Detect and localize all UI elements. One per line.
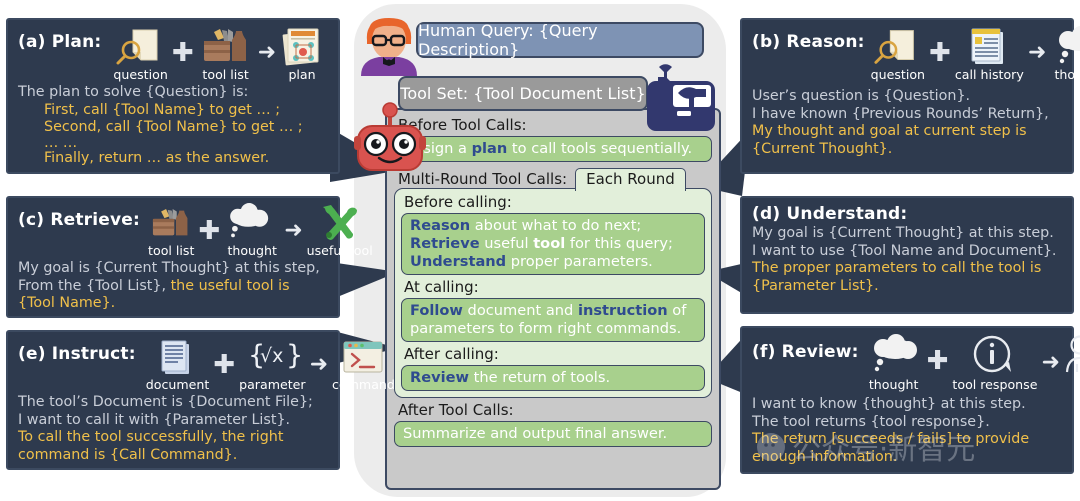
useful-tool-label: useful tool <box>307 243 373 258</box>
plan-icon <box>280 26 324 66</box>
understand-bold: Understand <box>410 253 506 270</box>
question-icon <box>873 26 923 66</box>
retrieve-line-1a: From the {Tool List}, <box>18 278 171 294</box>
plus-sign: ✚ <box>929 40 951 82</box>
reason-line-0: User’s question is {Question}. <box>752 88 1062 106</box>
document-label: document <box>146 377 210 392</box>
tool-list-label: tool list <box>148 243 194 258</box>
plan-line-4: Finally, return … as the answer. <box>18 150 328 168</box>
retrieve-rest: for this query; <box>565 235 673 252</box>
understand-line-1: I want to use {Tool Name and Document}. <box>752 243 1062 261</box>
reason-line-2: My thought and goal at current step is <box>752 123 1062 141</box>
call-history-label: call history <box>955 67 1024 82</box>
follow-mid: document and <box>463 302 578 319</box>
thought-cloud-icon <box>1050 26 1080 66</box>
thought-label: thought <box>1054 67 1080 82</box>
each-round-tab[interactable]: Each Round <box>575 168 686 191</box>
tool-set-chip[interactable]: Tool Set: {Tool Document List} <box>398 76 648 111</box>
instruction-bold: instruction <box>578 302 668 319</box>
reason-bold: Reason <box>410 217 470 234</box>
design-plan-post: to call tools sequentially. <box>507 140 692 157</box>
retrieve-line-1b: the useful tool is <box>171 278 290 294</box>
at-calling-label: At calling: <box>404 278 705 296</box>
critic-icon <box>1064 334 1080 376</box>
arrow-right-icon: ➜ <box>310 354 328 392</box>
panel-retrieve-title: (c) Retrieve: <box>18 210 140 230</box>
toolbox-icon <box>645 63 717 133</box>
retrieve-tool-bold: tool <box>533 235 565 252</box>
after-tool-calls-label: After Tool Calls: <box>398 401 712 419</box>
robot-avatar-icon <box>352 100 428 178</box>
instruct-line-2: To call the tool successfully, the right <box>18 429 328 447</box>
tool-list-icon <box>198 26 254 66</box>
retrieve-bold: Retrieve <box>410 235 480 252</box>
panel-understand: (d) Understand: My goal is {Current Thou… <box>740 196 1074 314</box>
review-line-3: enough information. <box>752 449 1062 467</box>
plus-sign: ✚ <box>213 352 235 392</box>
retrieve-line-0: My goal is {Current Thought} at this ste… <box>18 260 328 278</box>
understand-rest: proper parameters. <box>506 253 653 270</box>
tool-list-icon <box>148 204 194 242</box>
parameter-icon: { √x } <box>244 338 300 376</box>
plan-line-1: First, call {Tool Name} to get … ; <box>18 102 328 120</box>
plan-line-0: The plan to solve {Question} is: <box>18 84 328 102</box>
reason-rest: about what to do next; <box>470 217 641 234</box>
review-rest: the return of tools. <box>469 369 610 386</box>
question-icon <box>115 26 167 66</box>
panel-understand-title: (d) Understand: <box>752 204 1062 224</box>
thought-label: thought <box>869 377 919 392</box>
plus-sign: ✚ <box>927 348 949 392</box>
human-avatar-icon <box>357 14 421 76</box>
after-calling-label: After calling: <box>404 345 705 363</box>
follow-bold: Follow <box>410 302 463 319</box>
at-calling-box: Follow document and instruction of param… <box>401 298 705 342</box>
instruct-line-1: I want to call it with {Parameter List}. <box>18 412 328 430</box>
agent-process-box: Before Tool Calls: Design a plan to call… <box>385 108 721 490</box>
document-icon <box>157 338 199 376</box>
panel-plan-title: (a) Plan: <box>18 32 101 52</box>
command-terminal-icon <box>340 338 386 376</box>
review-line-1: The tool returns {tool response}. <box>752 414 1062 432</box>
reason-line-1: I have known {Previous Rounds’ Return}, <box>752 106 1062 124</box>
thought-cloud-icon <box>865 334 923 376</box>
thought-cloud-icon <box>224 204 280 242</box>
tool-response-icon <box>968 334 1022 376</box>
question-label: question <box>113 67 167 82</box>
panel-instruct: (e) Instruct: document ✚ <box>6 330 340 470</box>
after-calling-box: Review the return of tools. <box>401 365 705 391</box>
retrieve-mid: useful <box>480 235 534 252</box>
retrieve-line-2: {Tool Name}. <box>18 295 328 313</box>
plus-sign: ✚ <box>172 40 194 82</box>
understand-line-3: {Parameter List}. <box>752 278 1062 296</box>
after-tool-calls-box: Summarize and output final answer. <box>394 421 712 447</box>
plus-sign: ✚ <box>198 218 220 258</box>
reason-line-3: {Current Thought}. <box>752 141 1062 159</box>
call-history-icon <box>966 26 1012 66</box>
panel-instruct-title: (e) Instruct: <box>18 344 136 364</box>
arrow-right-icon: ➜ <box>1041 352 1059 392</box>
panel-review: (f) Review: thought ✚ <box>740 326 1074 474</box>
arrow-right-icon: ➜ <box>258 42 276 82</box>
question-label: question <box>871 67 925 82</box>
human-query-chip[interactable]: Human Query: {Query Description} <box>416 22 704 58</box>
panel-retrieve: (c) Retrieve: tool list ✚ <box>6 196 340 318</box>
arrow-right-icon: ➜ <box>1028 42 1046 82</box>
design-plan-bold: plan <box>472 140 508 157</box>
instruct-line-0: The tool’s Document is {Document File}; <box>18 394 328 412</box>
svg-text:√x: √x <box>260 345 283 367</box>
follow-rest: of <box>668 302 687 319</box>
diagram-root: Human Query: {Query Description} Tool Se… <box>0 0 1080 501</box>
understand-line-2: The proper parameters to call the tool i… <box>752 260 1062 278</box>
useful-tool-icon <box>317 204 363 242</box>
before-tool-calls-box: Design a plan to call tools sequentially… <box>394 136 712 162</box>
thought-label: thought <box>227 243 277 258</box>
each-round-inner-panel: Before calling: Reason about what to do … <box>394 188 712 398</box>
svg-text:}: } <box>286 340 303 371</box>
instruct-line-3: command is {Call Command}. <box>18 447 328 465</box>
understand-line-0: My goal is {Current Thought} at this ste… <box>752 225 1062 243</box>
command-label: command <box>332 377 395 392</box>
follow-line2: parameters to form right commands. <box>410 320 696 338</box>
panel-reason-title: (b) Reason: <box>752 32 865 52</box>
review-bold: Review <box>410 369 469 386</box>
before-calling-label: Before calling: <box>404 193 705 211</box>
plan-line-3: … … <box>18 137 328 150</box>
before-calling-box: Reason about what to do next; Retrieve u… <box>401 213 705 275</box>
panel-reason: (b) Reason: question ✚ <box>740 18 1074 174</box>
critic-label: critic <box>1074 377 1080 392</box>
arrow-right-icon: ➜ <box>284 220 302 258</box>
parameter-label: parameter <box>239 377 306 392</box>
tool-response-label: tool response <box>952 377 1037 392</box>
plan-label: plan <box>288 67 315 82</box>
review-line-0: I want to know {thought} at this step. <box>752 396 1062 414</box>
review-line-2: The return [succeeds / fails] to provide <box>752 431 1062 449</box>
tool-list-label: tool list <box>202 67 248 82</box>
panel-plan: (a) Plan: question ✚ <box>6 18 340 174</box>
panel-review-title: (f) Review: <box>752 342 859 362</box>
